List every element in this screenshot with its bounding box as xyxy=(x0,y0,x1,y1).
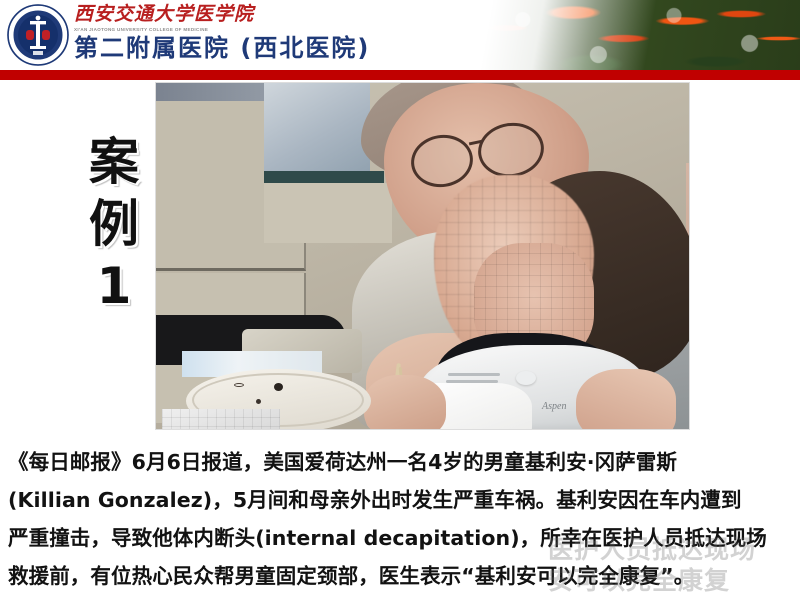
caption-line-3: 严重撞击，导致他体内断头(internal decapitation)，所幸在医… xyxy=(8,519,798,557)
caption-line-4: 救援前，有位热心民众帮男童固定颈部，医生表示“基利安可以完全康复”。 xyxy=(8,557,798,595)
pixelated-redaction-patch xyxy=(162,409,280,430)
case-label-char-3: 1 xyxy=(78,255,150,317)
case-label-char-2: 例 xyxy=(78,193,150,255)
photo-counter-surface xyxy=(264,183,392,243)
banner-fade-overlay xyxy=(380,0,800,70)
photo-fabric-backdrop xyxy=(264,83,370,178)
photo-hand-right xyxy=(576,369,676,430)
brand-text-block: 西安交通大学医学院 XI'AN JIAOTONG UNIVERSITY COLL… xyxy=(74,5,370,62)
presentation-slide: 西安交通大学医学院 XI'AN JIAOTONG UNIVERSITY COLL… xyxy=(0,0,800,600)
case-label-char-1: 案 xyxy=(78,131,150,193)
slide-header: 西安交通大学医学院 XI'AN JIAOTONG UNIVERSITY COLL… xyxy=(0,0,800,70)
case-photo: Aspen xyxy=(155,82,690,430)
header-red-divider-bar xyxy=(0,70,800,80)
hospital-emblem-icon xyxy=(6,3,70,67)
case-label: 案 例 1 xyxy=(78,131,150,317)
hospital-name-cn: 第二附属医院 (西北医院) xyxy=(74,34,370,62)
university-name-en: XI'AN JIAOTONG UNIVERSITY COLLEGE OF MED… xyxy=(74,26,370,33)
collar-brand-label: Aspen xyxy=(542,401,566,412)
collar-vent-slot xyxy=(448,373,500,376)
photo-hand-left xyxy=(364,375,446,430)
caption-line-2: (Killian Gonzalez)，5月间和母亲外出时发生严重车祸。基利安因在… xyxy=(8,481,798,519)
case-caption: 《每日邮报》6月6日报道，美国爱荷达州一名4岁的男童基利安·冈萨雷斯 (Kill… xyxy=(8,443,798,595)
university-name-cn: 西安交通大学医学院 xyxy=(74,5,370,25)
photo-food-crumb xyxy=(274,383,283,391)
caption-line-1: 《每日邮报》6月6日报道，美国爱荷达州一名4岁的男童基利安·冈萨雷斯 xyxy=(8,443,798,481)
collar-adjustment-knob xyxy=(516,371,536,385)
photo-food-crumb xyxy=(234,383,244,387)
photo-food-crumb xyxy=(256,399,261,404)
